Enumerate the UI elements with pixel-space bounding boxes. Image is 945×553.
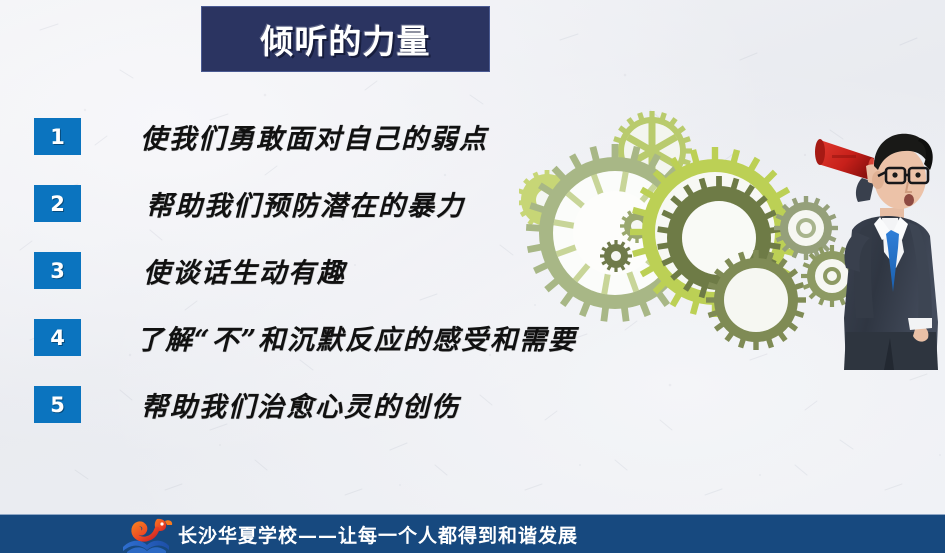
- list-number-badge: 3: [34, 252, 81, 289]
- list-item[interactable]: 1 使我们勇敢面对自己的弱点: [0, 112, 780, 179]
- list-item-text: 帮助我们预防潜在的暴力: [146, 179, 465, 227]
- footer-text: 长沙华夏学校——让每一个人都得到和谐发展: [178, 515, 578, 553]
- list-item[interactable]: 4 了解“不”和沉默反应的感受和需要: [0, 313, 780, 380]
- list-item-text: 了解“不”和沉默反应的感受和需要: [136, 313, 577, 361]
- seahorse-book-logo: [113, 513, 175, 553]
- bullet-list: 1 使我们勇敢面对自己的弱点 2 帮助我们预防潜在的暴力 3 使谈话生动有趣 4…: [0, 112, 780, 447]
- list-item-text: 帮助我们治愈心灵的创伤: [141, 380, 460, 428]
- slide-canvas: 倾听的力量 1 使我们勇敢面对自己的弱点 2 帮助我们预防潜在的暴力 3 使谈话…: [0, 0, 945, 553]
- list-number-badge: 2: [34, 185, 81, 222]
- list-item-text: 使我们勇敢面对自己的弱点: [140, 112, 488, 160]
- title-banner: 倾听的力量: [201, 6, 490, 72]
- page-title: 倾听的力量: [261, 15, 431, 63]
- footer-bar: 长沙华夏学校——让每一个人都得到和谐发展: [0, 514, 945, 553]
- list-item[interactable]: 3 使谈话生动有趣: [0, 246, 780, 313]
- list-item[interactable]: 2 帮助我们预防潜在的暴力: [0, 179, 780, 246]
- list-number-badge: 5: [34, 386, 81, 423]
- list-item-text: 使谈话生动有趣: [143, 246, 346, 294]
- list-number-badge: 4: [34, 319, 81, 356]
- list-item[interactable]: 5 帮助我们治愈心灵的创伤: [0, 380, 780, 447]
- list-number-badge: 1: [34, 118, 81, 155]
